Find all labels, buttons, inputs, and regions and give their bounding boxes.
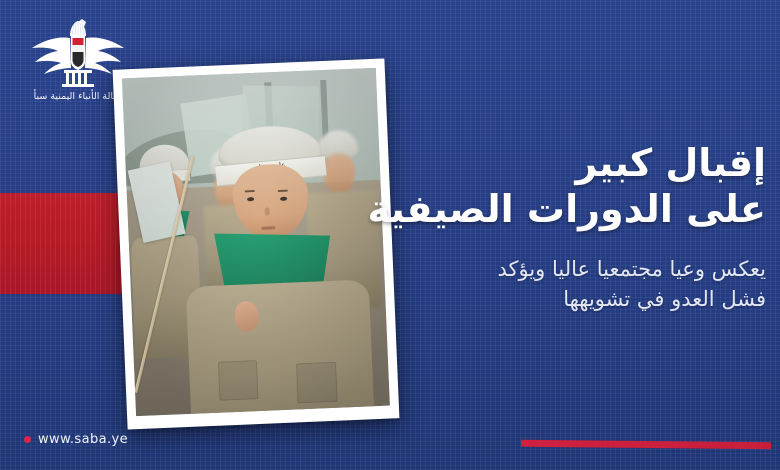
subheadline-line-1: يعكس وعيا مجتمعيا عاليا ويؤكد	[497, 257, 766, 281]
bottom-red-rule	[521, 440, 771, 449]
headline-line-2: على الدورات الصيفية	[346, 186, 766, 232]
headline: إقبال كبير على الدورات الصيفية	[346, 140, 766, 233]
site-url[interactable]: www.saba.ye	[24, 432, 128, 447]
news-card: وكالة الأنباء اليمنية سبأ	[0, 0, 780, 470]
subheadline-line-2: فشل العدو في تشويهها	[346, 285, 766, 315]
headline-line-1: إقبال كبير	[575, 141, 766, 185]
text-column: إقبال كبير على الدورات الصيفية يعكس وعيا…	[346, 140, 766, 314]
site-url-text: www.saba.ye	[38, 432, 128, 447]
bullet-dot-icon	[24, 436, 31, 443]
subheadline: يعكس وعيا مجتمعيا عاليا ويؤكد فشل العدو …	[346, 255, 766, 315]
